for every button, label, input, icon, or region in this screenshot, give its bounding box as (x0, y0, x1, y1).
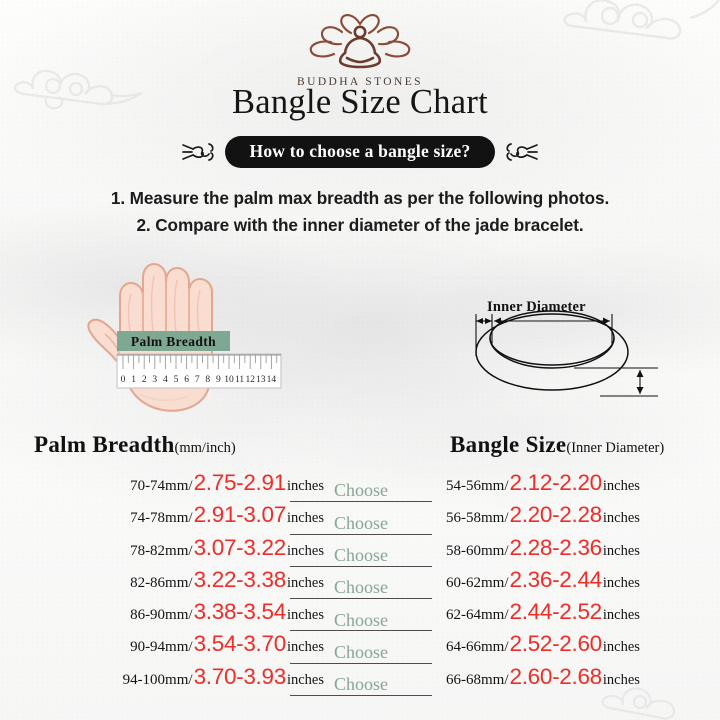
choose-link[interactable]: Choose (290, 611, 432, 632)
svg-text:10: 10 (224, 375, 234, 385)
unit-label: inches (603, 478, 640, 495)
svg-text:1: 1 (131, 375, 136, 385)
inch-range: 2.44-2.52 (510, 599, 602, 625)
bangle-size-row: 66-68mm/2.60-2.68inches (446, 664, 716, 696)
mm-range: 74-78mm/ (130, 510, 193, 527)
flourish-ornament-right-icon (504, 136, 540, 168)
choose-row: Choose (286, 502, 436, 534)
svg-text:8: 8 (205, 375, 210, 385)
bangle-size-row: 58-60mm/2.28-2.36inches (446, 535, 716, 567)
unit-label: inches (603, 510, 640, 527)
svg-text:Palm Breadth: Palm Breadth (131, 334, 216, 349)
mm-range: 86-90mm/ (130, 607, 193, 624)
inch-range: 3.70-3.93 (194, 664, 286, 690)
mm-range: 64-66mm/ (446, 639, 509, 656)
svg-text:11: 11 (235, 375, 244, 385)
palm-breadth-row: 90-94mm/3.54-3.70inches (24, 631, 324, 663)
bangle-ring-icon (462, 296, 662, 408)
mm-range: 78-82mm/ (130, 543, 193, 560)
choose-link[interactable]: Choose (290, 643, 432, 664)
mm-range: 70-74mm/ (130, 478, 193, 495)
flourish-ornament-left-icon (180, 136, 216, 168)
svg-text:7: 7 (195, 375, 200, 385)
right-header-unit: (Inner Diameter) (566, 440, 664, 456)
choose-link[interactable]: Choose (290, 578, 432, 599)
mm-range: 82-86mm/ (130, 575, 193, 592)
inch-range: 3.07-3.22 (194, 535, 286, 561)
choose-link[interactable]: Choose (290, 546, 432, 567)
lotus-meditation-icon (301, 12, 419, 70)
palm-breadth-row: 82-86mm/3.22-3.38inches (24, 567, 324, 599)
page-title: Bangle Size Chart (0, 83, 720, 122)
svg-text:6: 6 (184, 375, 189, 385)
right-column-header: Bangle Size(Inner Diameter) (450, 432, 664, 458)
unit-label: inches (603, 672, 640, 689)
choose-row: Choose (286, 535, 436, 567)
left-header-unit: (mm/inch) (175, 440, 236, 456)
unit-label: inches (603, 575, 640, 592)
subtitle-row: How to choose a bangle size? (0, 136, 720, 168)
mm-range: 62-64mm/ (446, 607, 509, 624)
inch-range: 2.60-2.68 (510, 664, 602, 690)
choose-row: Choose (286, 470, 436, 502)
inch-range: 2.20-2.28 (510, 502, 602, 528)
ruler-icon: 01234567891011121314 (117, 354, 281, 388)
svg-text:12: 12 (245, 375, 255, 385)
inch-range: 2.12-2.20 (510, 470, 602, 496)
choose-row: Choose (286, 664, 436, 696)
palm-breadth-row: 70-74mm/2.75-2.91inches (24, 470, 324, 502)
mm-range: 60-62mm/ (446, 575, 509, 592)
palm-breadth-rows: 70-74mm/2.75-2.91inches74-78mm/2.91-3.07… (24, 470, 324, 696)
bangle-size-row: 54-56mm/2.12-2.20inches (446, 470, 716, 502)
left-header-title: Palm Breadth (34, 432, 175, 457)
bangle-size-row: 64-66mm/2.52-2.60inches (446, 631, 716, 663)
svg-text:5: 5 (174, 375, 179, 385)
inch-range: 2.91-3.07 (194, 502, 286, 528)
choose-link[interactable]: Choose (290, 675, 432, 696)
right-header-title: Bangle Size (450, 432, 566, 457)
unit-label: inches (603, 543, 640, 560)
choose-row: Choose (286, 599, 436, 631)
instruction-line-1: 1. Measure the palm max breadth as per t… (0, 188, 720, 209)
svg-text:4: 4 (163, 375, 168, 385)
choose-row: Choose (286, 567, 436, 599)
inch-range: 2.75-2.91 (194, 470, 286, 496)
mm-range: 54-56mm/ (446, 478, 509, 495)
mm-range: 94-100mm/ (123, 672, 193, 689)
unit-label: inches (603, 639, 640, 656)
mm-range: 66-68mm/ (446, 672, 509, 689)
palm-breadth-row: 78-82mm/3.07-3.22inches (24, 535, 324, 567)
svg-text:0: 0 (121, 375, 126, 385)
inch-range: 2.52-2.60 (510, 631, 602, 657)
inch-range: 3.38-3.54 (194, 599, 286, 625)
palm-breadth-row: 94-100mm/3.70-3.93inches (24, 664, 324, 696)
inch-range: 3.22-3.38 (194, 567, 286, 593)
svg-text:2: 2 (142, 375, 147, 385)
choose-link[interactable]: Choose (290, 481, 432, 502)
svg-text:3: 3 (152, 375, 157, 385)
bangle-size-row: 62-64mm/2.44-2.52inches (446, 599, 716, 631)
palm-breadth-row: 74-78mm/2.91-3.07inches (24, 502, 324, 534)
mm-range: 58-60mm/ (446, 543, 509, 560)
inch-range: 2.36-2.44 (510, 567, 602, 593)
inch-range: 2.28-2.36 (510, 535, 602, 561)
open-palm-hand-icon: Palm Breadth 01234567891011121314 (74, 252, 284, 420)
size-chart-page: BUDDHA STONES Bangle Size Chart How to c… (0, 0, 720, 720)
mm-range: 90-94mm/ (130, 639, 193, 656)
brand-logo-block: BUDDHA STONES (0, 12, 720, 88)
subtitle-pill: How to choose a bangle size? (225, 136, 496, 168)
inch-range: 3.54-3.70 (194, 631, 286, 657)
bangle-size-rows: 54-56mm/2.12-2.20inches56-58mm/2.20-2.28… (446, 470, 716, 696)
instruction-line-2: 2. Compare with the inner diameter of th… (0, 215, 720, 236)
svg-text:9: 9 (216, 375, 221, 385)
mm-range: 56-58mm/ (446, 510, 509, 527)
unit-label: inches (603, 607, 640, 624)
bangle-size-row: 56-58mm/2.20-2.28inches (446, 502, 716, 534)
svg-text:13: 13 (256, 375, 266, 385)
left-column-header: Palm Breadth(mm/inch) (34, 432, 236, 458)
svg-text:14: 14 (267, 375, 277, 385)
bangle-size-row: 60-62mm/2.36-2.44inches (446, 567, 716, 599)
palm-breadth-row: 86-90mm/3.38-3.54inches (24, 599, 324, 631)
choose-links-column: ChooseChooseChooseChooseChooseChooseChoo… (286, 470, 436, 696)
choose-link[interactable]: Choose (290, 514, 432, 535)
palm-breadth-badge: Palm Breadth (117, 331, 230, 351)
choose-row: Choose (286, 631, 436, 663)
